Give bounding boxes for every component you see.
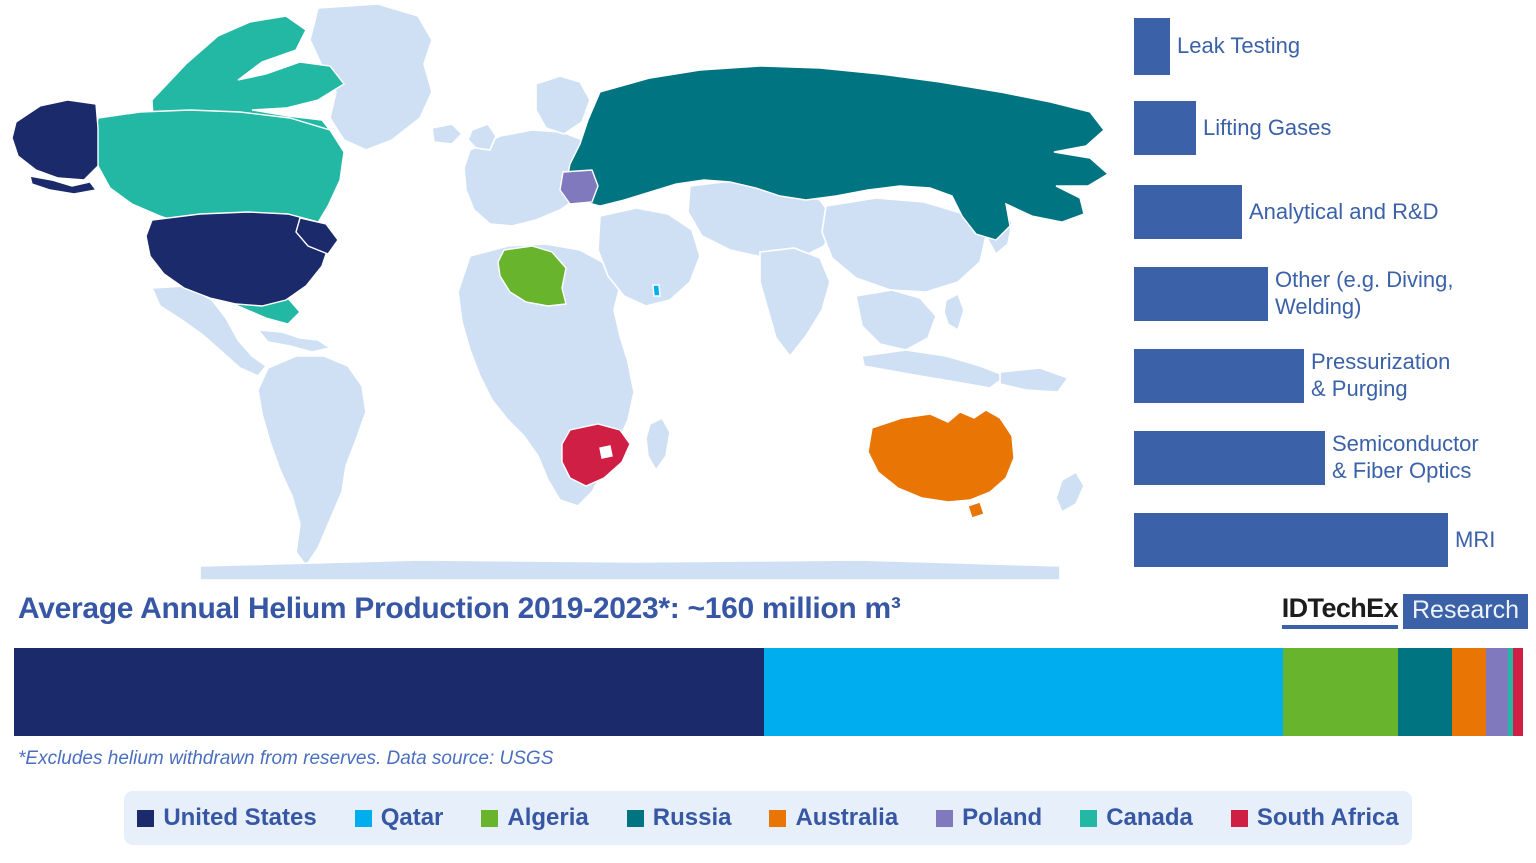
stack-segment-united-states[interactable] — [14, 648, 764, 736]
logo-wordmark: IDTechEx — [1282, 594, 1398, 629]
stack-segment-qatar[interactable] — [764, 648, 1283, 736]
legend-item-united-states[interactable]: United States — [137, 804, 316, 832]
country-poland — [560, 170, 598, 204]
app-bar-row[interactable]: Pressurization & Purging — [1134, 349, 1450, 403]
app-bar-label: Analytical and R&D — [1249, 199, 1439, 226]
country-madagascar — [646, 418, 670, 470]
app-bar-label: Other (e.g. Diving, Welding) — [1275, 267, 1454, 321]
app-bar — [1134, 513, 1448, 567]
title-row: Average Annual Helium Production 2019-20… — [0, 592, 1536, 644]
legend-item-algeria[interactable]: Algeria — [481, 804, 588, 832]
app-bar — [1134, 267, 1268, 321]
country-australia — [868, 410, 1014, 502]
country-qatar — [653, 285, 660, 296]
app-bar-row[interactable]: Analytical and R&D — [1134, 185, 1439, 239]
logo-research-badge: Research — [1403, 594, 1528, 629]
legend-label: South Africa — [1257, 804, 1399, 832]
app-bar-label: Lifting Gases — [1203, 115, 1331, 142]
legend-swatch-icon — [769, 810, 786, 827]
legend-item-canada[interactable]: Canada — [1080, 804, 1193, 832]
app-bar-row[interactable]: Other (e.g. Diving, Welding) — [1134, 267, 1454, 321]
legend-label: Canada — [1106, 804, 1193, 832]
country-south-africa — [562, 424, 630, 486]
legend-item-russia[interactable]: Russia — [627, 804, 732, 832]
region-scandinavia — [536, 76, 590, 134]
page-title: Average Annual Helium Production 2019-20… — [18, 592, 901, 626]
country-iceland — [432, 124, 462, 144]
legend-swatch-icon — [1080, 810, 1097, 827]
legend-label: Australia — [795, 804, 898, 832]
country-united-kingdom — [468, 124, 496, 150]
legend-swatch-icon — [481, 810, 498, 827]
legend-item-south-africa[interactable]: South Africa — [1231, 804, 1399, 832]
world-map — [0, 0, 1120, 580]
app-bar-label: MRI — [1455, 527, 1495, 554]
legend-swatch-icon — [355, 810, 372, 827]
legend-label: Russia — [653, 804, 732, 832]
legend-swatch-icon — [627, 810, 644, 827]
country-australia-tasmania — [968, 502, 984, 518]
stack-segment-russia[interactable] — [1398, 648, 1452, 736]
infographic-page: Leak Testing Lifting Gases Analytical an… — [0, 0, 1536, 863]
legend-item-australia[interactable]: Australia — [769, 804, 898, 832]
legend-label: United States — [163, 804, 316, 832]
country-philippines — [944, 294, 964, 330]
app-bar-label: Leak Testing — [1177, 33, 1300, 60]
legend-swatch-icon — [137, 810, 154, 827]
country-lesotho-hole — [600, 446, 612, 458]
app-bar — [1134, 431, 1325, 485]
country-india — [760, 248, 830, 356]
region-indonesia — [862, 350, 1006, 388]
legend-label: Poland — [962, 804, 1042, 832]
app-bar — [1134, 349, 1304, 403]
footnote: *Excludes helium withdrawn from reserves… — [18, 748, 553, 770]
app-bar-label: Semiconductor & Fiber Optics — [1332, 431, 1479, 485]
stack-segment-poland[interactable] — [1486, 648, 1508, 736]
country-united-states-alaska — [12, 100, 98, 180]
continent-south-america — [258, 356, 366, 566]
legend-item-poland[interactable]: Poland — [936, 804, 1042, 832]
app-bar-row[interactable]: Leak Testing — [1134, 18, 1300, 75]
island-new-guinea — [1000, 368, 1068, 392]
app-bar-label: Pressurization & Purging — [1311, 349, 1450, 403]
app-bar — [1134, 18, 1170, 75]
applications-bar-chart: Leak Testing Lifting Gases Analytical an… — [1128, 0, 1536, 580]
country-legend: United States Qatar Algeria Russia Austr… — [124, 791, 1412, 845]
region-antarctica — [200, 560, 1060, 580]
world-map-panel — [0, 0, 1120, 580]
app-bar-row[interactable]: Lifting Gases — [1134, 101, 1331, 155]
legend-label: Algeria — [507, 804, 588, 832]
region-caribbean — [258, 330, 330, 352]
production-stacked-bar[interactable] — [14, 648, 1523, 736]
app-bar-row[interactable]: Semiconductor & Fiber Optics — [1134, 431, 1479, 485]
legend-label: Qatar — [381, 804, 444, 832]
app-bar — [1134, 101, 1196, 155]
stack-segment-australia[interactable] — [1452, 648, 1486, 736]
legend-swatch-icon — [1231, 810, 1248, 827]
app-bar — [1134, 185, 1242, 239]
region-southeast-asia — [856, 290, 936, 350]
legend-swatch-icon — [936, 810, 953, 827]
country-new-zealand — [1056, 472, 1084, 512]
legend-item-qatar[interactable]: Qatar — [355, 804, 444, 832]
stack-segment-south-africa[interactable] — [1513, 648, 1523, 736]
app-bar-row[interactable]: MRI — [1134, 513, 1495, 567]
idtechex-logo[interactable]: IDTechEx Research — [1282, 594, 1528, 636]
stack-segment-algeria[interactable] — [1283, 648, 1398, 736]
